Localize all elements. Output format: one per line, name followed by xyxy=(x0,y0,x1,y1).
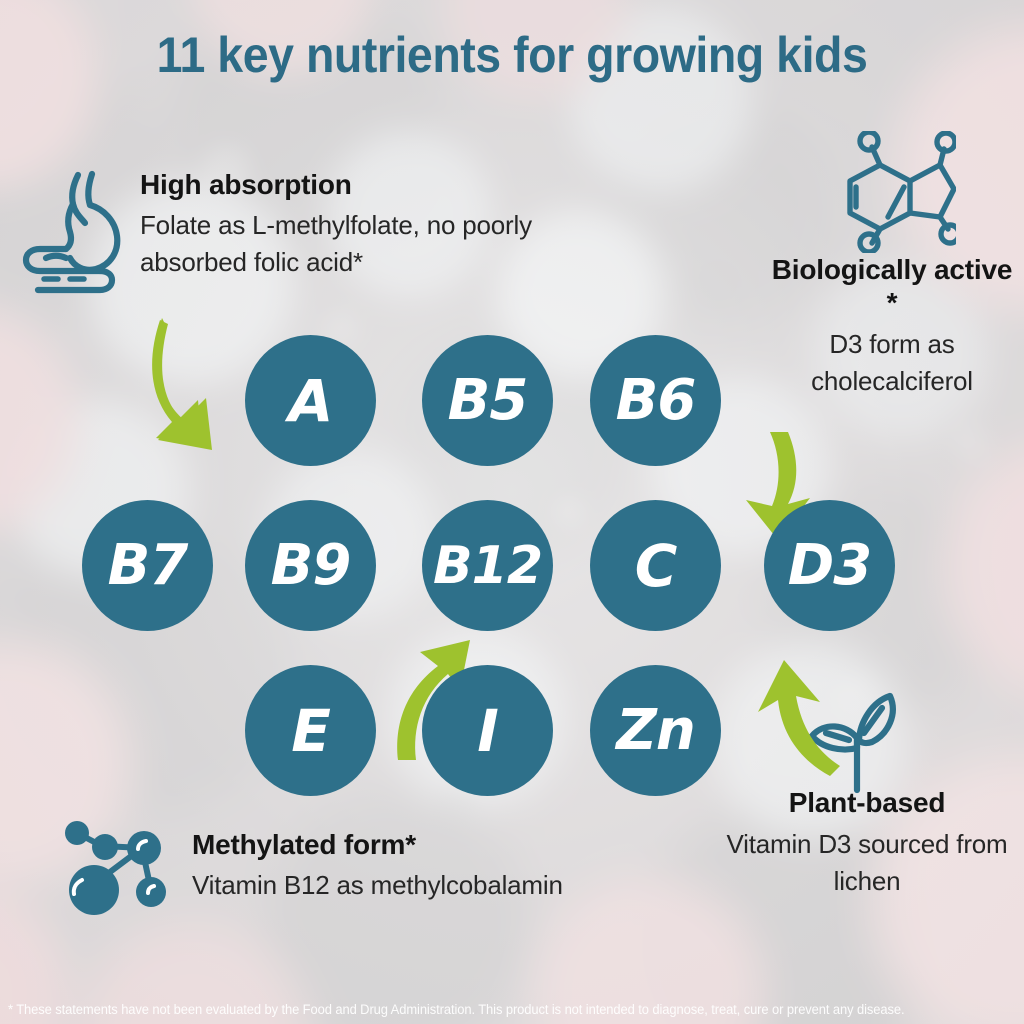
nutrient-label: B5 xyxy=(448,368,528,433)
nutrient-circle-zn[interactable]: Zn xyxy=(590,665,721,796)
callout-methylated-form: Methylated form* Vitamin B12 as methylco… xyxy=(192,828,662,904)
callout-body: D3 form as cholecalciferol xyxy=(768,326,1016,400)
nutrient-label: C xyxy=(635,532,677,600)
nutrient-label: A xyxy=(289,367,333,435)
nutrient-circle-a[interactable]: A xyxy=(245,335,376,466)
callout-biologically-active: Biologically active * D3 form as choleca… xyxy=(768,253,1016,400)
molecule-icon xyxy=(828,131,956,258)
nutrient-label: D3 xyxy=(788,533,871,598)
nutrient-circle-b6[interactable]: B6 xyxy=(590,335,721,466)
nutrient-circle-b9[interactable]: B9 xyxy=(245,500,376,631)
infographic-canvas: 11 key nutrients for growing kids High a… xyxy=(0,0,1024,1024)
stomach-icon xyxy=(22,166,126,303)
callout-plant-based: Plant-based Vitamin D3 sourced from lich… xyxy=(722,786,1012,900)
nutrient-circle-i[interactable]: I xyxy=(422,665,553,796)
nutrient-circle-b5[interactable]: B5 xyxy=(422,335,553,466)
nutrient-label: E xyxy=(291,697,330,765)
nutrient-circle-d3[interactable]: D3 xyxy=(764,500,895,631)
page-title: 11 key nutrients for growing kids xyxy=(36,26,988,84)
callout-high-absorption: High absorption Folate as L-methylfolate… xyxy=(140,168,620,281)
nutrient-label: I xyxy=(477,697,498,765)
nutrient-label: B12 xyxy=(433,536,542,596)
nutrient-label: Zn xyxy=(616,698,694,763)
nutrient-label: B7 xyxy=(108,533,188,598)
callout-title: Methylated form* xyxy=(192,828,662,861)
arrow-plant-to-d3 xyxy=(748,626,852,783)
callout-body: Folate as L-methylfolate, no poorly abso… xyxy=(140,207,620,281)
nutrient-label: B9 xyxy=(271,533,351,598)
nutrient-label: B6 xyxy=(616,368,696,433)
nutrient-circle-b7[interactable]: B7 xyxy=(82,500,213,631)
callout-title: High absorption xyxy=(140,168,620,201)
callout-body: Vitamin D3 sourced from lichen xyxy=(722,826,1012,900)
footer-disclaimer: * These statements have not been evaluat… xyxy=(8,1002,976,1017)
nutrient-circle-b12[interactable]: B12 xyxy=(422,500,553,631)
callout-title: Biologically active * xyxy=(768,253,1016,319)
callout-title: Plant-based xyxy=(722,786,1012,819)
nutrient-circle-e[interactable]: E xyxy=(245,665,376,796)
molecule-network-icon xyxy=(58,818,176,925)
callout-body: Vitamin B12 as methylcobalamin xyxy=(192,867,662,904)
nutrient-circle-c[interactable]: C xyxy=(590,500,721,631)
